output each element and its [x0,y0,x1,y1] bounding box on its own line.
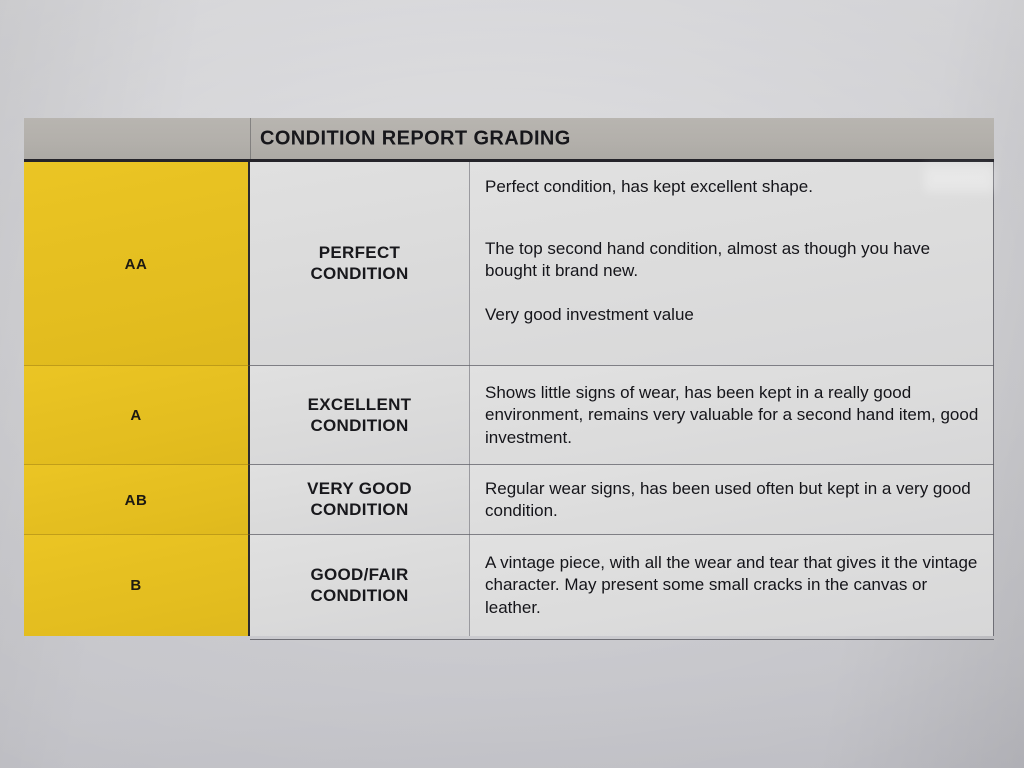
description-paragraph: Perfect condition, has kept excellent sh… [485,176,979,198]
grade-cell-aa: AA [24,162,250,366]
condition-label-line2: CONDITION [310,264,408,283]
table-body: AA PERFECT CONDITION Perfect condition, … [24,162,994,639]
condition-cell-a: EXCELLENT CONDITION [250,366,470,465]
grade-label: A [130,407,141,424]
condition-label-line2: CONDITION [310,500,408,519]
description-paragraph: Very good investment value [485,304,979,326]
condition-label: EXCELLENT CONDITION [308,395,412,436]
grade-cell-b: B [24,535,250,636]
condition-label: GOOD/FAIR CONDITION [310,565,408,606]
description-paragraph: The top second hand condition, almost as… [485,238,979,282]
condition-label-line1: EXCELLENT [308,395,412,414]
condition-cell-ab: VERY GOOD CONDITION [250,465,470,535]
condition-label: VERY GOOD CONDITION [307,479,412,520]
description-cell-aa: Perfect condition, has kept excellent sh… [470,162,994,366]
description-paragraph: Regular wear signs, has been used often … [485,478,979,522]
description-cell-b: A vintage piece, with all the wear and t… [470,535,994,636]
table-row: B GOOD/FAIR CONDITION A vintage piece, w… [24,535,994,636]
condition-report-grading-table: CONDITION REPORT GRADING AA PERFECT COND… [24,118,994,639]
grade-cell-ab: AB [24,465,250,535]
grade-label: AA [125,256,148,273]
grade-cell-a: A [24,366,250,465]
condition-label-line2: CONDITION [310,586,408,605]
table-row: AB VERY GOOD CONDITION Regular wear sign… [24,465,994,535]
table-row: AA PERFECT CONDITION Perfect condition, … [24,162,994,366]
table-header-band: CONDITION REPORT GRADING [24,118,994,162]
condition-label-line2: CONDITION [310,416,408,435]
header-column-divider [250,118,251,159]
condition-cell-b: GOOD/FAIR CONDITION [250,535,470,636]
description-paragraph: Shows little signs of wear, has been kep… [485,382,979,448]
condition-label-line1: PERFECT [319,243,400,262]
grade-label: B [130,577,141,594]
description-cell-ab: Regular wear signs, has been used often … [470,465,994,535]
table-bottom-border [250,639,994,640]
table-row: A EXCELLENT CONDITION Shows little signs… [24,366,994,465]
description-cell-a: Shows little signs of wear, has been kep… [470,366,994,465]
description-paragraph: A vintage piece, with all the wear and t… [485,552,979,618]
table-title: CONDITION REPORT GRADING [260,127,571,150]
condition-label: PERFECT CONDITION [310,243,408,284]
condition-cell-aa: PERFECT CONDITION [250,162,470,366]
condition-label-line1: GOOD/FAIR [310,565,408,584]
grade-label: AB [125,492,148,509]
condition-label-line1: VERY GOOD [307,479,412,498]
